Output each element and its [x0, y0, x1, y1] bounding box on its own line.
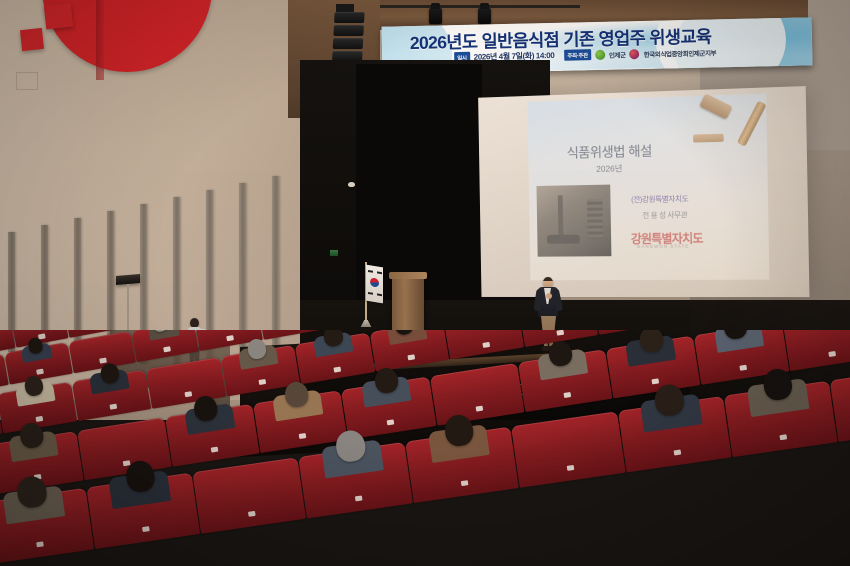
auditorium-seat[interactable]	[724, 381, 838, 458]
projection-screen: 식품위생법 해설 2026년 (전)강원특별자치도 전 용 성 사무관 강원특별…	[478, 86, 809, 297]
audience-seating	[0, 330, 850, 566]
slide-title: 식품위생법 해설	[567, 140, 652, 162]
stage-light-icon-2	[478, 8, 491, 24]
presentation-slide: 식품위생법 해설 2026년 (전)강원특별자치도 전 용 성 사무관 강원특별…	[527, 94, 769, 281]
taeguk-symbol-icon	[370, 277, 379, 287]
stage-light-icon-1	[429, 8, 442, 24]
south-korea-flag	[352, 262, 382, 336]
banner-host-org-1: 인제군	[609, 49, 626, 59]
slide-presenter-name: 전 용 성 사무관	[642, 209, 687, 221]
red-square-wall-art-large	[44, 3, 73, 30]
banner-host-tag: 주최·주관	[564, 49, 591, 61]
auditorium-seat[interactable]	[165, 404, 260, 467]
dome-camera-icon	[348, 182, 355, 187]
slide-year: 2026년	[596, 162, 622, 175]
monitor-stand-pole	[127, 284, 129, 332]
audience-member-shoulders	[147, 330, 180, 341]
auditorium-seat[interactable]	[518, 349, 613, 412]
auditorium-seat[interactable]	[86, 473, 200, 550]
auditorium-seat[interactable]	[444, 330, 524, 359]
gavel-icon	[694, 96, 761, 157]
slide-brand-subtitle: GANGWON STATE	[637, 244, 689, 249]
auditorium-seat[interactable]	[295, 332, 375, 384]
red-square-wall-art-small	[20, 28, 44, 51]
auditorium-seat[interactable]	[429, 363, 524, 426]
restaurant-association-logo-icon	[630, 49, 640, 59]
microscope-photo	[536, 185, 611, 257]
auditorium-seat[interactable]	[192, 457, 306, 534]
wooden-podium	[392, 276, 424, 332]
red-panel-edge	[96, 0, 104, 80]
inje-county-logo-icon	[595, 49, 605, 59]
auditorium-seat[interactable]	[606, 336, 701, 399]
auditorium-seat[interactable]	[369, 330, 449, 372]
auditorium-seat[interactable]	[511, 411, 625, 488]
auditorium-seat[interactable]	[299, 442, 413, 519]
auditorium-seat[interactable]	[341, 377, 436, 440]
slide-affiliation: (전)강원특별자치도	[631, 193, 688, 205]
banner-host-org-2: 한국외식업중앙회인제군지부	[644, 47, 717, 59]
auditorium-seat[interactable]	[0, 488, 94, 565]
auditorium-seat[interactable]	[253, 390, 348, 453]
auditorium-seat[interactable]	[72, 369, 152, 421]
exit-sign	[330, 250, 338, 256]
auditorium-seat[interactable]	[405, 427, 519, 504]
auditorium-seat[interactable]	[617, 396, 731, 473]
wall-vent	[16, 72, 38, 90]
auditorium-photo-scene: 2026년도 일반음식점 기존 영업주 위생교육 일시 2026년 4월 7일(…	[0, 0, 850, 566]
auditorium-seat[interactable]	[782, 330, 850, 371]
